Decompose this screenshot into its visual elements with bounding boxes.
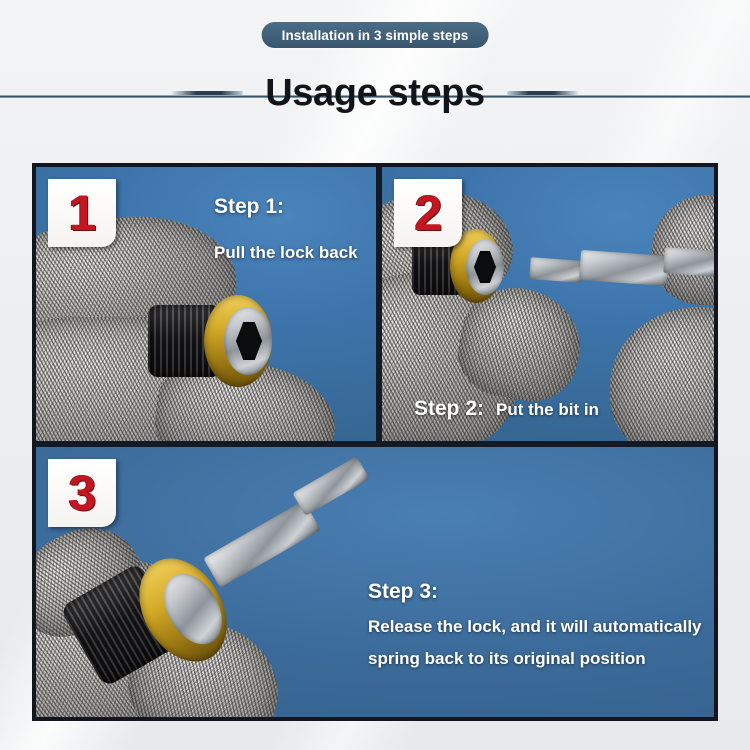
page-title: Usage steps <box>265 74 484 112</box>
step-2-heading: Step 2: <box>414 397 484 421</box>
step-number: 3 <box>69 468 96 518</box>
step-1-panel: 1 Step 1: Pull the lock back <box>36 167 376 441</box>
driver-bit-end-icon <box>663 247 714 277</box>
status-badge: Installation in 3 simple steps <box>262 22 489 48</box>
step-number-badge: 3 <box>48 459 116 527</box>
usage-steps-collage: 1 Step 1: Pull the lock back 2 Step 2: P… <box>32 163 718 721</box>
step-3-heading: Step 3: <box>368 580 438 604</box>
step-3-panel: 3 Step 3: Release the lock, and it will … <box>36 447 714 717</box>
step-number-badge: 2 <box>394 179 462 247</box>
step-number-badge: 1 <box>48 179 116 247</box>
step-number: 1 <box>69 188 96 238</box>
driver-bit-shank-icon <box>579 250 669 286</box>
step-3-body-line-2: spring back to its original position <box>368 649 646 669</box>
step-2-body: Put the bit in <box>496 400 599 420</box>
step-2-caption-row: Step 2: Put the bit in <box>414 397 599 421</box>
step-2-panel: 2 Step 2: Put the bit in <box>382 167 714 441</box>
driver-bit-tip-icon <box>529 257 582 283</box>
step-number: 2 <box>415 188 442 238</box>
page-title-row: Usage steps <box>0 74 750 112</box>
title-rule-left <box>171 91 243 95</box>
step-1-heading: Step 1: <box>214 195 284 219</box>
step-1-body: Pull the lock back <box>214 243 358 263</box>
step-3-body-line-1: Release the lock, and it will automatica… <box>368 617 702 637</box>
title-rule-right <box>507 91 579 95</box>
